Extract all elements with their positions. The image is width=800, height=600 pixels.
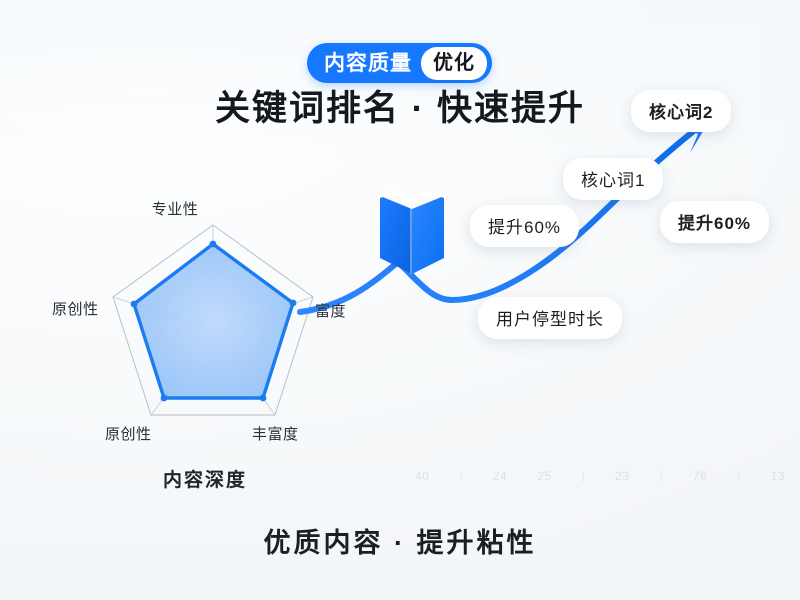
tick-value-5: 76 (693, 469, 707, 483)
tick-mark-2: | (582, 469, 585, 483)
infographic-canvas: 内容质量 优化 关键词排名 · 快速提升 优质内容 · 提升粘性 内容深度 专业… (0, 0, 800, 600)
pill-uplift-right[interactable]: 提升60% (660, 201, 769, 243)
radar-axis-label-top: 专业性 (152, 198, 199, 219)
pill-core-keyword-2[interactable]: 核心词2 (631, 90, 731, 132)
tick-mark-1: | (460, 469, 463, 483)
radar-axis-label-bottom-left: 原创性 (105, 423, 152, 444)
tick-mark-4: | (737, 469, 740, 483)
faint-tick-axis: 40 | 24 25 | 23 | 76 | 13 (415, 466, 785, 486)
pill-core-keyword-1[interactable]: 核心词1 (563, 158, 663, 200)
tick-value-3: 25 (537, 469, 551, 483)
tick-value-6: 13 (771, 469, 785, 483)
tick-mark-3: | (660, 469, 663, 483)
tick-value-2: 24 (493, 469, 507, 483)
pill-dwell-time[interactable]: 用户停型时长 (478, 297, 622, 339)
tick-value-1: 40 (415, 469, 429, 483)
pill-uplift-left[interactable]: 提升60% (470, 205, 579, 247)
radar-axis-label-left: 原创性 (52, 298, 99, 319)
radar-axis-label-right: 富度 (315, 300, 346, 321)
radar-axis-label-bottom-right: 丰富度 (252, 423, 299, 444)
tick-value-4: 23 (615, 469, 629, 483)
